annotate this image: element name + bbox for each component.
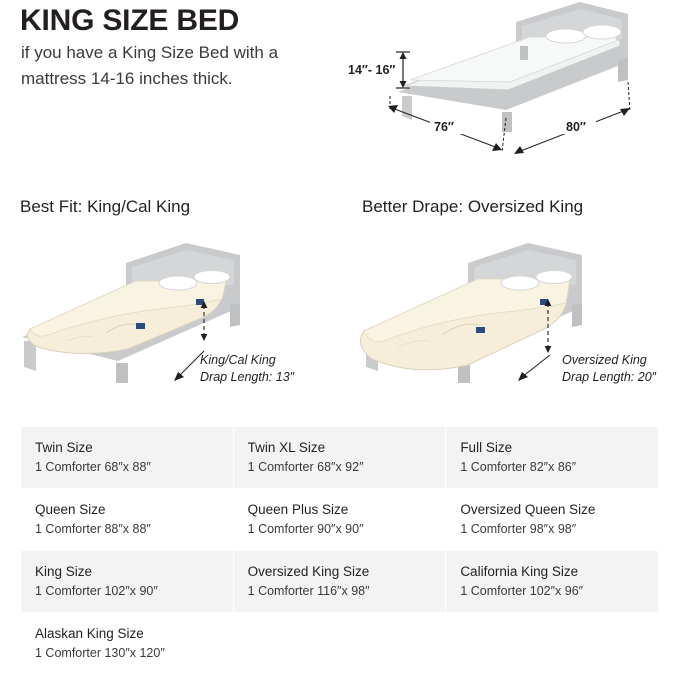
cell-subtitle: 1 Comforter 102″x 96″ [460, 584, 644, 598]
cell-title: California King Size [460, 564, 644, 579]
cell-subtitle: 1 Comforter 68″x 88″ [35, 460, 219, 474]
cell-title: Oversized Queen Size [460, 502, 644, 517]
hero-width-label: 76″ [434, 120, 454, 134]
cell-subtitle: 1 Comforter 116″x 98″ [248, 584, 432, 598]
cell-subtitle: 1 Comforter 88″x 88″ [35, 522, 219, 536]
cell-subtitle: 1 Comforter 68″x 92″ [248, 460, 432, 474]
table-row: Twin Size 1 Comforter 68″x 88″ Twin XL S… [21, 427, 659, 489]
cell-title: Twin XL Size [248, 440, 432, 455]
better-drape-section-title: Better Drape: Oversized King [362, 197, 583, 217]
cell-subtitle: 1 Comforter 98″x 98″ [460, 522, 644, 536]
table-row: Alaskan King Size 1 Comforter 130″x 120″ [21, 613, 659, 675]
table-row: Queen Size 1 Comforter 88″x 88″ Queen Pl… [21, 489, 659, 551]
king-bed-dimension-illustration: 14″- 16″ 76″ 80″ [330, 0, 679, 170]
best-fit-callout-line1: King/Cal King [200, 352, 294, 369]
table-cell-queen: Queen Size 1 Comforter 88″x 88″ [21, 489, 234, 551]
better-drape-callout-line2: Drap Length: 20″ [562, 369, 656, 386]
cell-title: King Size [35, 564, 219, 579]
table-cell-oversized-king: Oversized King Size 1 Comforter 116″x 98… [233, 551, 446, 613]
cell-title: Twin Size [35, 440, 219, 455]
hero-mattress-thickness-label: 14″- 16″ [348, 63, 395, 77]
better-drape-callout: Oversized King Drap Length: 20″ [562, 352, 656, 386]
table-cell-oversized-queen: Oversized Queen Size 1 Comforter 98″x 98… [446, 489, 659, 551]
cell-title: Full Size [460, 440, 644, 455]
cell-title: Queen Size [35, 502, 219, 517]
table-cell-king: King Size 1 Comforter 102″x 90″ [21, 551, 234, 613]
page-subtitle: if you have a King Size Bed with a mattr… [21, 40, 311, 93]
table-cell-twin: Twin Size 1 Comforter 68″x 88″ [21, 427, 234, 489]
comforter-size-table: Twin Size 1 Comforter 68″x 88″ Twin XL S… [20, 426, 659, 675]
table-cell-california-king: California King Size 1 Comforter 102″x 9… [446, 551, 659, 613]
hero-length-label: 80″ [566, 120, 586, 134]
table-cell-queen-plus: Queen Plus Size 1 Comforter 90″x 90″ [233, 489, 446, 551]
cell-title: Alaskan King Size [35, 626, 219, 641]
cell-subtitle: 1 Comforter 130″x 120″ [35, 646, 219, 660]
cell-title: Queen Plus Size [248, 502, 432, 517]
cell-title: Oversized King Size [248, 564, 432, 579]
table-cell-empty [233, 613, 446, 675]
best-fit-callout: King/Cal King Drap Length: 13″ [200, 352, 294, 386]
page-title: KING SIZE BED [20, 4, 239, 37]
best-fit-callout-line2: Drap Length: 13″ [200, 369, 294, 386]
cell-subtitle: 1 Comforter 90″x 90″ [248, 522, 432, 536]
better-drape-callout-line1: Oversized King [562, 352, 656, 369]
best-fit-section-title: Best Fit: King/Cal King [20, 197, 190, 217]
table-cell-empty [446, 613, 659, 675]
cell-subtitle: 1 Comforter 82″x 86″ [460, 460, 644, 474]
cell-subtitle: 1 Comforter 102″x 90″ [35, 584, 219, 598]
table-cell-full: Full Size 1 Comforter 82″x 86″ [446, 427, 659, 489]
table-cell-alaskan-king: Alaskan King Size 1 Comforter 130″x 120″ [21, 613, 234, 675]
table-row: King Size 1 Comforter 102″x 90″ Oversize… [21, 551, 659, 613]
table-cell-twin-xl: Twin XL Size 1 Comforter 68″x 92″ [233, 427, 446, 489]
